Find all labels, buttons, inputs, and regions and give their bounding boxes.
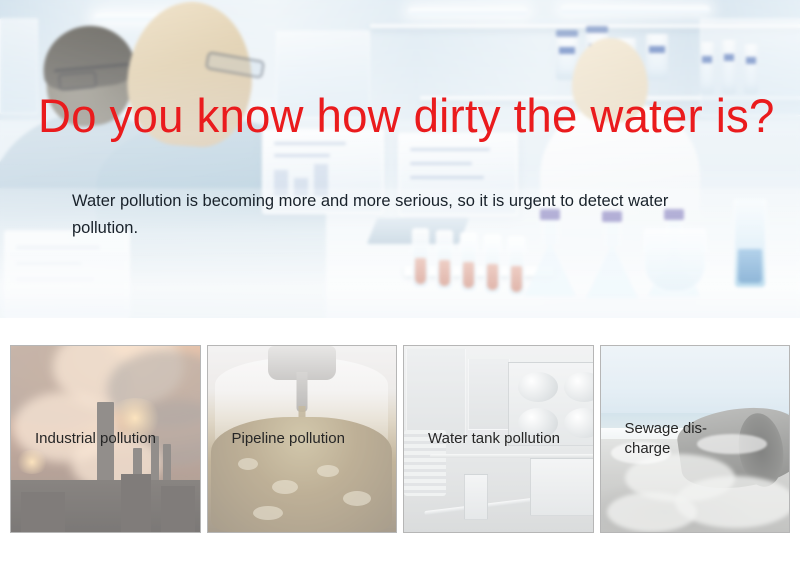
hero-subcopy: Water pollution is becoming more and mor… — [72, 188, 732, 242]
hero-banner: Do you know how dirty the water is? Wate… — [0, 0, 800, 318]
card-label-sewage-discharge: Sewage dis- charge — [625, 419, 778, 459]
hero-headline: Do you know how dirty the water is? — [38, 90, 775, 142]
card-label-water-tank-pollution: Water tank pollution — [428, 429, 581, 449]
promo-banner-page: Do you know how dirty the water is? Wate… — [0, 0, 800, 585]
card-industrial-pollution[interactable]: Industrial pollution — [10, 345, 201, 533]
card-sewage-discharge[interactable]: Sewage dis- charge — [600, 345, 791, 533]
card-pipeline-pollution[interactable]: Pipeline pollution — [207, 345, 398, 533]
card-label-industrial-pollution: Industrial pollution — [35, 429, 188, 449]
hero-text-block: Do you know how dirty the water is? Wate… — [0, 0, 800, 318]
pollution-card-row: Industrial pollution Pipeline pollution — [0, 345, 800, 535]
card-label-pipeline-pollution: Pipeline pollution — [232, 429, 385, 449]
card-water-tank-pollution[interactable]: Water tank pollution — [403, 345, 594, 533]
